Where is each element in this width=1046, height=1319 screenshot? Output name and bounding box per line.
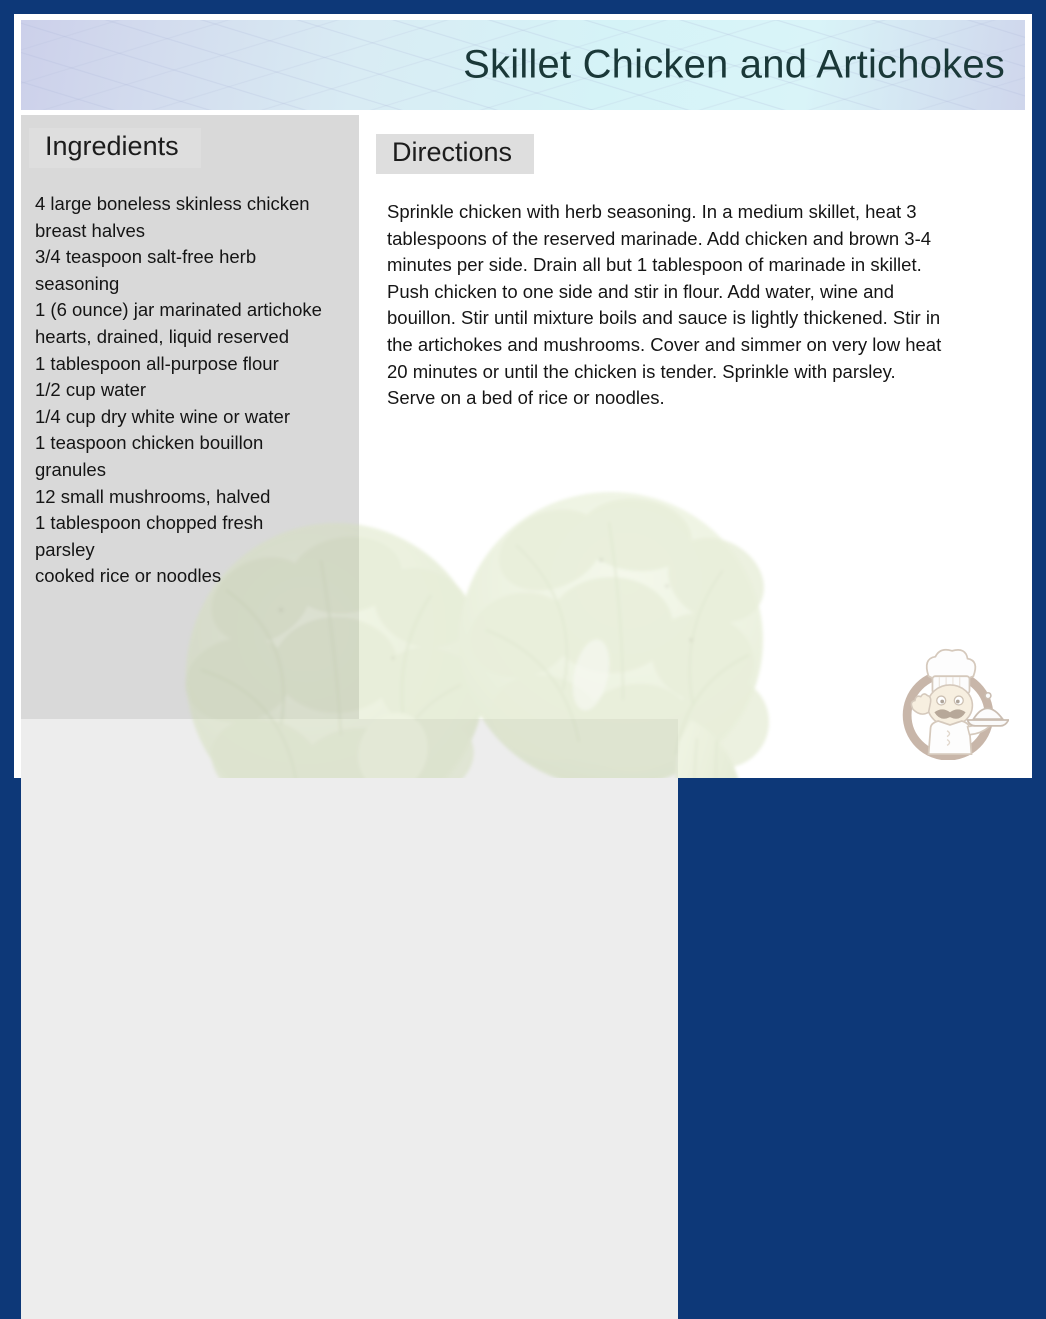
- ingredients-heading: Ingredients: [29, 128, 201, 168]
- text-line: bouillon. Stir until mixture boils and s…: [387, 305, 1016, 332]
- text-line: the artichokes and mushrooms. Cover and …: [387, 332, 1016, 359]
- list-item: breast halves: [35, 218, 361, 245]
- list-item: 1 tablespoon all-purpose flour: [35, 351, 361, 378]
- ingredients-list: 4 large boneless skinless chicken breast…: [31, 191, 365, 590]
- text-line: minutes per side. Drain all but 1 tables…: [387, 252, 1016, 279]
- content-area: Ingredients 4 large boneless skinless ch…: [21, 115, 1025, 778]
- list-item: parsley: [35, 537, 361, 564]
- chef-with-cloche-logo: [891, 645, 1009, 760]
- list-item: cooked rice or noodles: [35, 563, 361, 590]
- text-line: Sprinkle chicken with herb seasoning. In…: [387, 199, 1016, 226]
- directions-panel: [21, 719, 678, 1319]
- directions-heading: Directions: [376, 134, 534, 174]
- recipe-card: Skillet Chicken and Artichokes Ingredien…: [0, 0, 1046, 792]
- list-item: 1 tablespoon chopped fresh: [35, 510, 361, 537]
- page-title: Skillet Chicken and Artichokes: [463, 43, 1005, 88]
- text-line: 20 minutes or until the chicken is tende…: [387, 359, 1016, 386]
- list-item: 12 small mushrooms, halved: [35, 484, 361, 511]
- list-item: 3/4 teaspoon salt-free herb: [35, 244, 361, 271]
- card-inner-surface: Skillet Chicken and Artichokes Ingredien…: [14, 14, 1032, 778]
- text-line: Serve on a bed of rice or noodles.: [387, 385, 1016, 412]
- list-item: 1 (6 ounce) jar marinated artichoke: [35, 297, 361, 324]
- list-item: seasoning: [35, 271, 361, 298]
- list-item: hearts, drained, liquid reserved: [35, 324, 361, 351]
- list-item: 1/4 cup dry white wine or water: [35, 404, 361, 431]
- title-banner: Skillet Chicken and Artichokes: [21, 20, 1025, 110]
- list-item: 1/2 cup water: [35, 377, 361, 404]
- text-line: Push chicken to one side and stir in flo…: [387, 279, 1016, 306]
- list-item: 1 teaspoon chicken bouillon: [35, 430, 361, 457]
- directions-text: Sprinkle chicken with herb seasoning. In…: [376, 199, 1027, 412]
- text-line: tablespoons of the reserved marinade. Ad…: [387, 226, 1016, 253]
- list-item: 4 large boneless skinless chicken: [35, 191, 361, 218]
- list-item: granules: [35, 457, 361, 484]
